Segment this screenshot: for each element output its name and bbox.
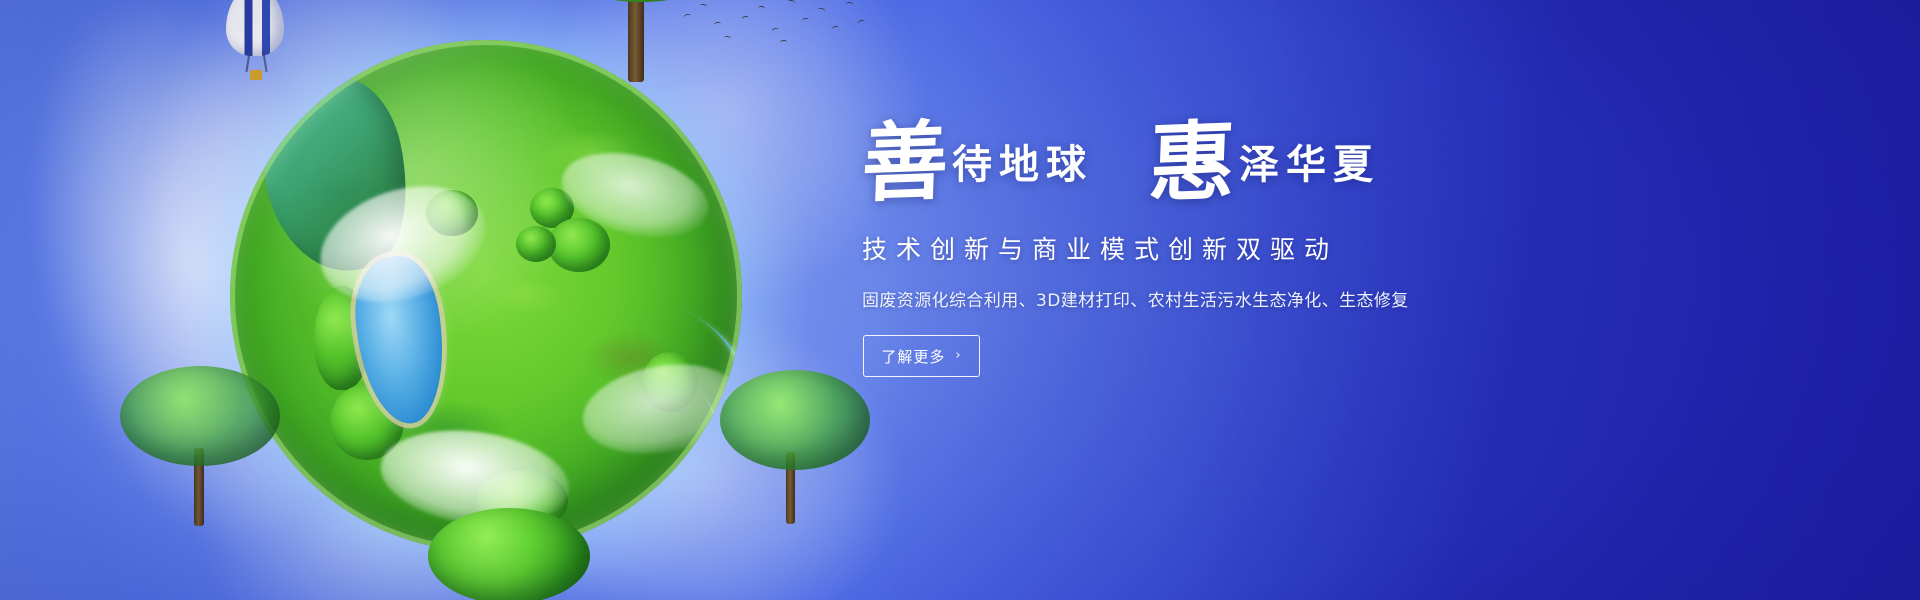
hero-content: 善待地球 惠泽华夏 技术创新与商业模式创新双驱动 固废资源化综合利用、3D建材打… (862, 120, 1562, 377)
chevron-right-icon: › (955, 348, 961, 363)
learn-more-button[interactable]: 了解更多 › (863, 335, 980, 377)
headline-big-char-1: 善 (860, 119, 949, 208)
headline-small-chars-2: 泽华夏 (1239, 145, 1380, 185)
headline-small-chars-1: 待地球 (952, 145, 1093, 185)
headline-big-char-2: 惠 (1147, 119, 1236, 208)
learn-more-label: 了解更多 (881, 346, 945, 367)
page-title: 善待地球 惠泽华夏 (862, 120, 1562, 216)
subtitle: 技术创新与商业模式创新双驱动 (862, 230, 1562, 266)
hero-banner: 善待地球 惠泽华夏 技术创新与商业模式创新双驱动 固废资源化综合利用、3D建材打… (0, 0, 1920, 600)
headline-phrase-2: 惠泽华夏 (1149, 120, 1380, 206)
description-text: 固废资源化综合利用、3D建材打印、农村生活污水生态净化、生态修复 (862, 286, 1562, 311)
headline-phrase-1: 善待地球 (862, 120, 1093, 206)
